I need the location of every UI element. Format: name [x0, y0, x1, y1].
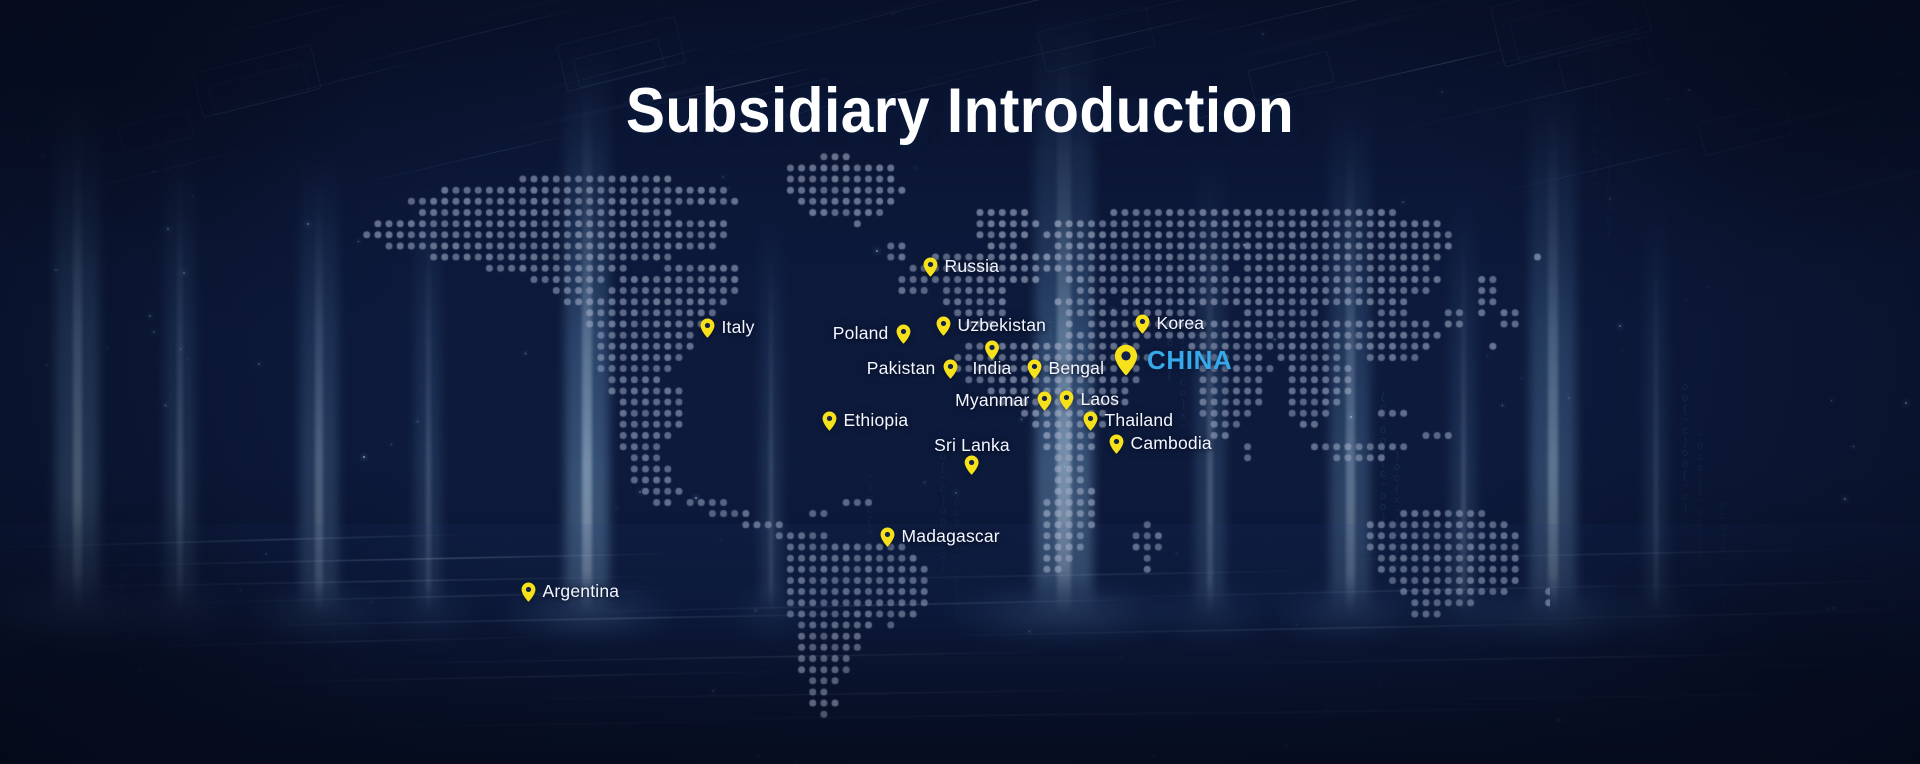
map-marker-label: Myanmar	[955, 392, 1029, 410]
map-marker-label: Thailand	[1105, 412, 1174, 430]
map-marker-italy[interactable]: Italy	[700, 318, 755, 338]
map-marker-label: Uzbekistan	[958, 317, 1047, 335]
location-pin-icon	[1135, 314, 1150, 334]
map-marker-label: Italy	[722, 319, 755, 337]
location-pin-icon	[1083, 411, 1098, 431]
map-marker-label: Argentina	[543, 583, 620, 601]
map-marker-label: India	[973, 360, 1012, 378]
location-pin-icon	[1109, 434, 1124, 454]
map-marker-label: Sri Lanka	[934, 437, 1010, 455]
map-marker-label: Poland	[833, 325, 889, 343]
map-marker-label: Madagascar	[902, 528, 1000, 546]
map-marker-argentina[interactable]: Argentina	[521, 582, 620, 602]
map-marker-label: Bengal	[1049, 360, 1105, 378]
location-pin-icon	[984, 340, 999, 360]
map-marker-ethiopia[interactable]: Ethiopia	[822, 411, 909, 431]
page-title: Subsidiary Introduction	[67, 78, 1853, 144]
location-pin-icon	[1037, 391, 1052, 411]
location-pin-icon	[1059, 390, 1074, 410]
map-marker-pakistan[interactable]: Pakistan	[867, 359, 958, 379]
map-marker-russia[interactable]: Russia	[923, 257, 1000, 277]
map-marker-china[interactable]: CHINA	[1114, 344, 1232, 376]
map-marker-cambodia[interactable]: Cambodia	[1109, 434, 1212, 454]
map-marker-thailand[interactable]: Thailand	[1083, 411, 1174, 431]
map-marker-myanmar[interactable]: Myanmar	[955, 391, 1051, 411]
location-pin-icon	[943, 359, 958, 379]
world-map: RussiaItalyUzbekistanPolandKoreaIndiaPak…	[350, 140, 1550, 720]
location-pin-icon	[521, 582, 536, 602]
map-marker-srilanka[interactable]: Sri Lanka	[934, 435, 1010, 475]
world-dot-map-canvas	[350, 140, 1550, 720]
location-pin-icon	[923, 257, 938, 277]
map-marker-korea[interactable]: Korea	[1135, 314, 1205, 334]
location-pin-icon	[1114, 344, 1138, 376]
map-marker-label: Ethiopia	[844, 412, 909, 430]
location-pin-icon	[880, 527, 895, 547]
map-marker-madagascar[interactable]: Madagascar	[880, 527, 1000, 547]
map-marker-poland[interactable]: Poland	[833, 324, 911, 344]
location-pin-icon	[822, 411, 837, 431]
map-marker-laos[interactable]: Laos	[1059, 390, 1120, 410]
map-marker-bengal[interactable]: Bengal	[1027, 359, 1105, 379]
map-marker-india[interactable]: India	[973, 340, 1012, 379]
map-marker-label: Laos	[1081, 391, 1120, 409]
location-pin-icon	[1027, 359, 1042, 379]
slide-canvas: ~ocs)(~ocs)(oco)x~oco)x~(c~oo)(c~oo)~)oc…	[0, 0, 1920, 764]
map-marker-label: Pakistan	[867, 360, 936, 378]
map-marker-label: Russia	[945, 258, 1000, 276]
map-marker-label: CHINA	[1147, 347, 1232, 373]
location-pin-icon	[700, 318, 715, 338]
map-marker-uzbekistan[interactable]: Uzbekistan	[936, 316, 1047, 336]
location-pin-icon	[896, 324, 911, 344]
map-marker-label: Korea	[1157, 315, 1205, 333]
location-pin-icon	[964, 455, 979, 475]
location-pin-icon	[936, 316, 951, 336]
map-marker-label: Cambodia	[1131, 435, 1212, 453]
